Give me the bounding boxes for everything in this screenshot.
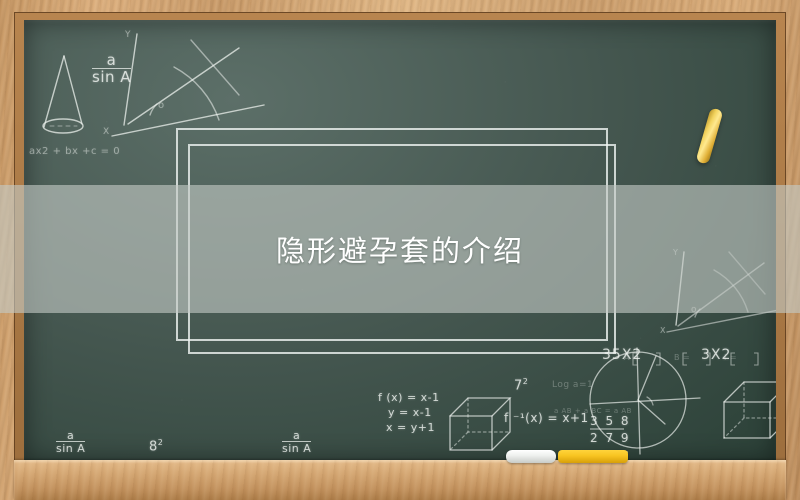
chalk-axis-x-right: X bbox=[660, 326, 666, 335]
chalk-matrix-b-label: B = bbox=[674, 353, 690, 362]
chalk-inverse-function: f ⁻¹(x) = x+1 bbox=[504, 411, 589, 425]
chalk-sine-rule-bottom-left: a sin A bbox=[56, 430, 85, 455]
chalk-function-line-1: f (x) = x-1 bbox=[378, 391, 440, 406]
chalk-sine-rule-bottom-mid: a sin A bbox=[282, 430, 311, 455]
chalk-matrix-i-label: I = bbox=[724, 353, 737, 362]
chalk-axis-y-top: Y bbox=[125, 30, 131, 40]
title-card-stage: a sin A Y X o ax2 + bx +c = 0 Y X o 35X2… bbox=[0, 0, 800, 500]
chalk-ledge bbox=[14, 460, 786, 500]
chalk-seven-squared: 72 bbox=[514, 377, 528, 393]
chalk-arith-row-2: 2 7 9 bbox=[590, 431, 631, 445]
chalk-function-line-3: x = y+1 bbox=[386, 421, 435, 434]
yellow-chalk-icon bbox=[558, 450, 628, 463]
title-band: 隐形避孕套的介绍 bbox=[0, 185, 800, 313]
chalk-matrix-a-label: A = bbox=[624, 353, 640, 362]
chalk-eight-squared: 82 bbox=[149, 438, 163, 454]
chalk-arith-row-1: 3 5 8 bbox=[590, 414, 631, 428]
chalk-quadratic-equation: ax2 + bx +c = 0 bbox=[29, 146, 120, 157]
chalk-angle-label-top: o bbox=[158, 100, 165, 111]
chalk-sine-rule-top: a sin A bbox=[92, 53, 131, 86]
chalk-log-label: Log a=1 bbox=[552, 380, 593, 390]
white-chalk-icon bbox=[506, 450, 556, 463]
chalk-axis-x-top: X bbox=[103, 127, 110, 137]
chalk-function-line-2: y = x-1 bbox=[388, 406, 432, 419]
page-title: 隐形避孕套的介绍 bbox=[276, 228, 524, 270]
